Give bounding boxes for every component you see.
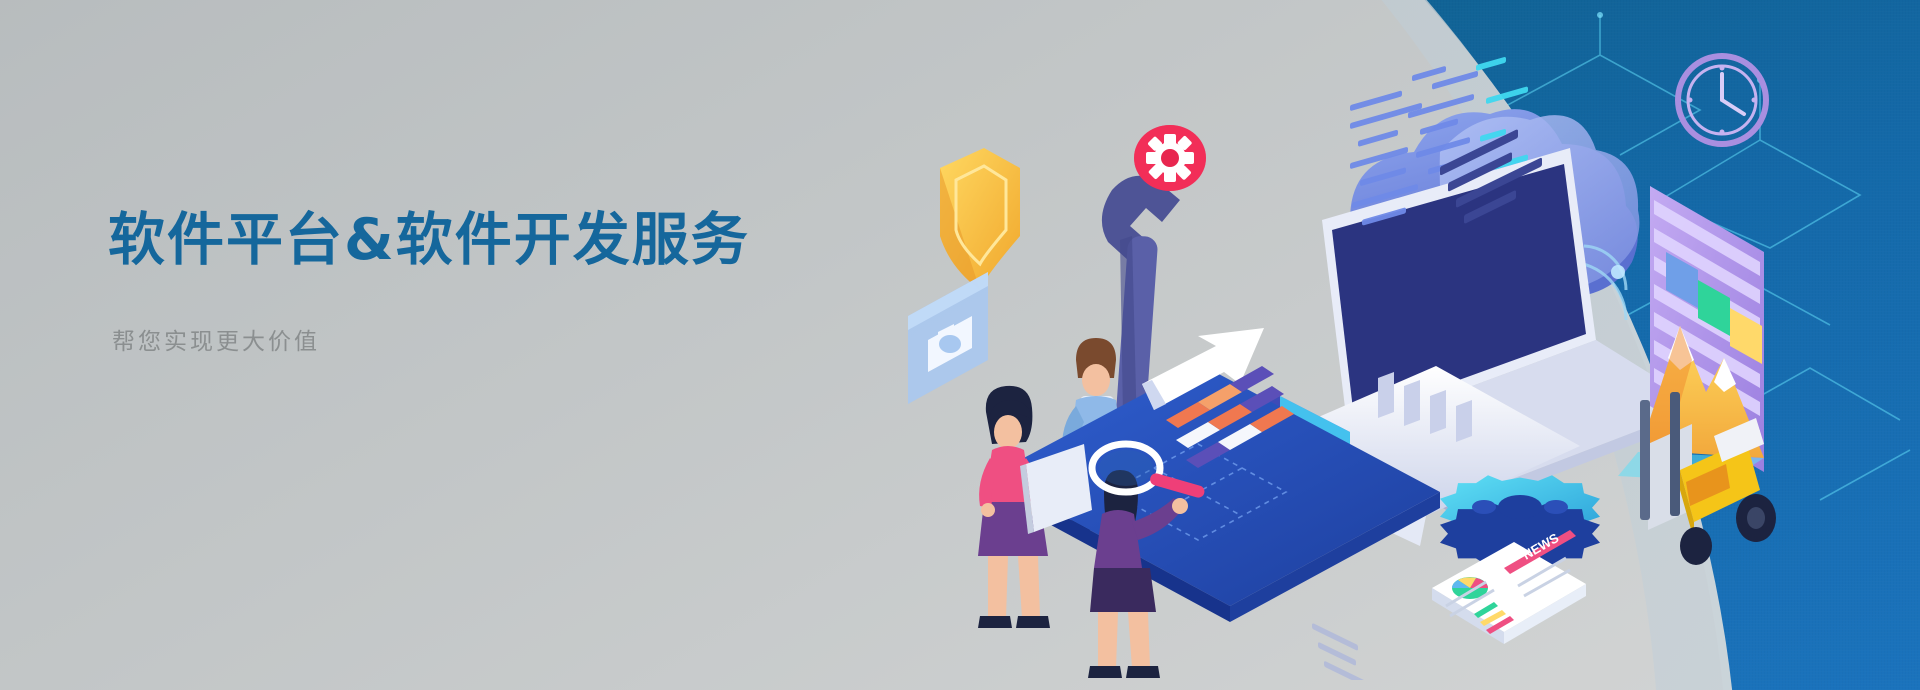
clock-icon — [1678, 56, 1766, 144]
shield-icon — [940, 148, 1020, 290]
page-title: 软件平台&软件开发服务 — [108, 205, 750, 276]
page-subtitle: 帮您实现更大价值 — [112, 322, 750, 356]
hero-banner: 软件平台&软件开发服务 帮您实现更大价值 — [0, 0, 1920, 690]
gear-badge-icon — [1134, 125, 1206, 191]
hero-illustration: NEWS — [880, 40, 1900, 680]
camera-card-icon — [908, 272, 988, 404]
hero-text-block: 软件平台&软件开发服务 帮您实现更大价值 — [108, 205, 750, 356]
